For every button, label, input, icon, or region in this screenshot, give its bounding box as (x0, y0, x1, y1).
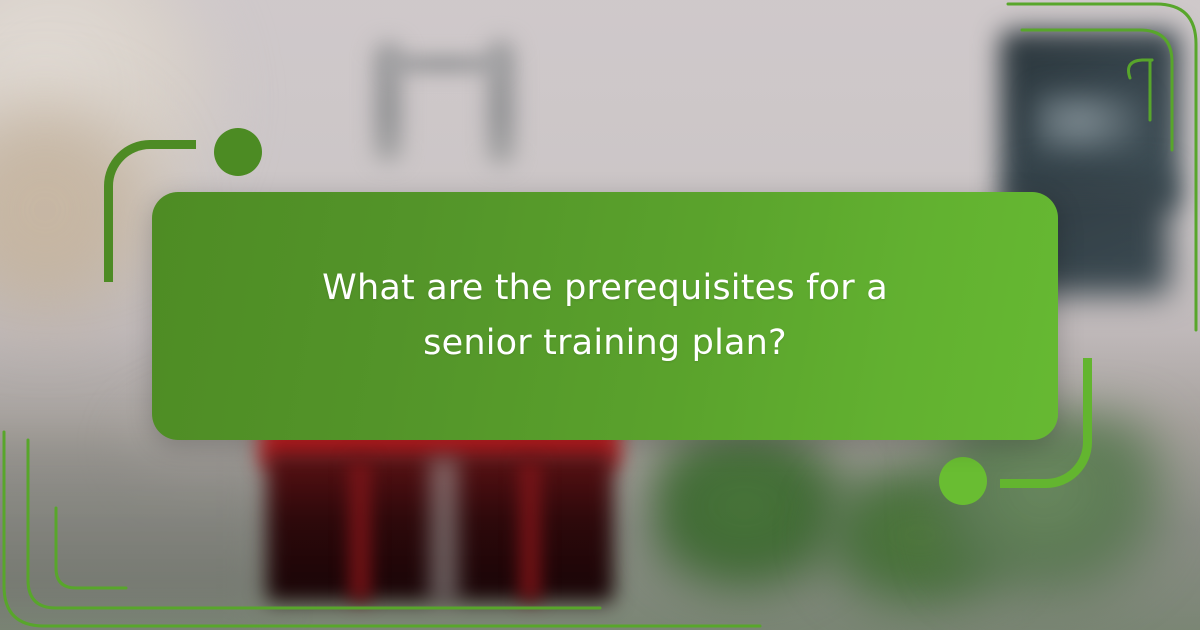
top-left-dot-decoration (214, 128, 262, 176)
question-card[interactable]: What are the prerequisites for a senior … (152, 192, 1058, 440)
bottom-right-dot-decoration (939, 457, 987, 505)
question-card-banner: What are the prerequisites for a senior … (0, 0, 1200, 630)
question-text: What are the prerequisites for a senior … (265, 261, 945, 372)
